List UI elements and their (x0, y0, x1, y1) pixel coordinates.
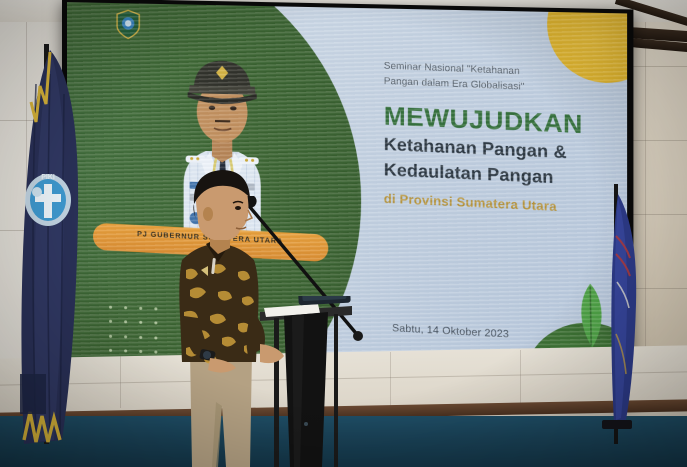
wall-seam (120, 356, 121, 408)
wall-seam (390, 352, 391, 408)
wall-seam (520, 350, 521, 408)
svg-text:PIKI: PIKI (41, 174, 55, 181)
conference-hall-scene: PJ GUBERNUR SUMATERA UTARA Seminar Nasio… (0, 0, 687, 467)
speaker-at-podium (160, 166, 290, 467)
left-ceremonial-flag: PIKI (6, 44, 90, 444)
right-standing-flag (586, 184, 650, 444)
